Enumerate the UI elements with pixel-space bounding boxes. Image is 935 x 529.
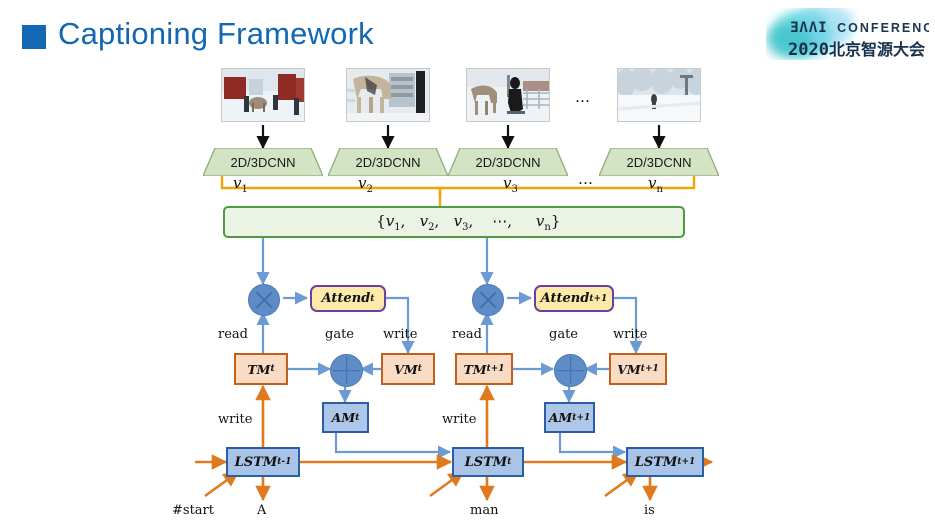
attend-block-t1-label: Attend	[541, 291, 590, 306]
lstm-block-t: LSTMt	[452, 447, 524, 477]
video-frame-4	[617, 68, 701, 122]
video-frame-3	[466, 68, 550, 122]
attended-memory-t-label: AM	[332, 410, 356, 425]
gate-op-t1	[554, 354, 587, 387]
temporal-memory-t: TMt	[234, 353, 288, 385]
temporal-memory-t1-sup: t+1	[487, 364, 505, 374]
attended-memory-t1-label: AM	[549, 410, 573, 425]
temporal-memory-t1: TMt+1	[455, 353, 513, 385]
temporal-memory-t-sup: t	[270, 364, 274, 374]
cnn-ellipsis: …	[578, 170, 595, 188]
title-bullet-icon	[22, 25, 46, 49]
lstm-block-t-sup: t	[507, 457, 511, 467]
read-label-t: read	[218, 327, 248, 342]
video-frame-2	[346, 68, 430, 122]
visual-memory-t-label: VM	[394, 362, 418, 377]
logo-conference-text: CONFERENCE	[837, 21, 929, 35]
read-label-t1: read	[452, 327, 482, 342]
lstm-block-t-label: LSTM	[465, 455, 508, 470]
frames-ellipsis: …	[575, 88, 592, 106]
lstm-block-t-minus-1: LSTMt-1	[226, 447, 300, 477]
gate-label-t: gate	[325, 327, 354, 342]
visual-memory-t1: VMt+1	[609, 353, 667, 385]
logo-chinese-text: 北京智源大会	[829, 40, 925, 59]
attend-block-t-sup: t	[370, 294, 374, 304]
temporal-memory-t1-label: TM	[463, 362, 486, 377]
feature-label-v3: v3	[503, 174, 518, 195]
multiply-op-t	[248, 284, 280, 316]
attended-memory-t1-sup: t+1	[572, 413, 590, 423]
cnn-block-3-label: 2D/3DCNN	[448, 148, 568, 176]
feature-set-box: {v1, v2, v3, ⋯, vn}	[223, 206, 685, 238]
caption-token-a: A	[257, 503, 266, 518]
cnn-block-1-label: 2D/3DCNN	[203, 148, 323, 176]
slide-canvas: Captioning Framework ƎΛΛI CONFERENCE 202…	[0, 0, 935, 529]
video-frame-1	[221, 68, 305, 122]
cnn-block-4: 2D/3DCNN	[599, 148, 719, 176]
attend-block-t1-sup: t+1	[589, 294, 607, 304]
gate-label-t1: gate	[549, 327, 578, 342]
logo-line-2: 2020北京智源大会	[788, 36, 925, 60]
feature-label-vn: vn	[648, 174, 663, 195]
feature-set-label: {v1, v2, v3, ⋯, vn}	[348, 194, 561, 251]
attended-memory-t: AMt	[322, 402, 369, 433]
temporal-memory-t-label: TM	[247, 362, 270, 377]
write-label-t1: write	[613, 327, 647, 342]
caption-token-is: is	[644, 503, 655, 518]
attend-block-t-label: Attend	[322, 291, 371, 306]
visual-memory-t: VMt	[381, 353, 435, 385]
caption-token-start: #start	[172, 503, 214, 518]
lstm-block-t-plus-1-label: LSTM	[635, 455, 678, 470]
logo-line-1: ƎΛΛI CONFERENCE	[790, 20, 929, 36]
attend-block-t: Attendt	[310, 285, 386, 312]
multiply-op-t1	[472, 284, 504, 316]
write-label-lstm-t: write	[218, 412, 252, 427]
visual-memory-t1-sup: t+1	[641, 364, 659, 374]
write-label-t: write	[383, 327, 417, 342]
feature-label-v2: v2	[358, 174, 373, 195]
logo-year: 2020	[788, 40, 829, 60]
cnn-block-3: 2D/3DCNN	[448, 148, 568, 176]
visual-memory-t-sup: t	[418, 364, 422, 374]
cnn-block-2-label: 2D/3DCNN	[328, 148, 448, 176]
visual-memory-t1-label: VM	[617, 362, 641, 377]
baai-conference-logo: ƎΛΛI CONFERENCE 2020北京智源大会	[766, 8, 929, 60]
logo-wordmark: ƎΛΛI	[790, 20, 828, 36]
cnn-block-4-label: 2D/3DCNN	[599, 148, 719, 176]
cnn-block-2: 2D/3DCNN	[328, 148, 448, 176]
write-label-lstm-t1: write	[442, 412, 476, 427]
cnn-block-1: 2D/3DCNN	[203, 148, 323, 176]
feature-label-v1: v1	[233, 174, 248, 195]
attend-block-t1: Attendt+1	[534, 285, 614, 312]
attended-memory-t1: AMt+1	[544, 402, 595, 433]
gate-op-t	[330, 354, 363, 387]
page-title: Captioning Framework	[58, 16, 374, 52]
caption-token-man: man	[470, 503, 498, 518]
lstm-block-t-plus-1-sup: t+1	[677, 457, 695, 467]
lstm-block-t-minus-1-sup: t-1	[277, 457, 291, 467]
lstm-block-t-minus-1-label: LSTM	[235, 455, 278, 470]
attended-memory-t-sup: t	[355, 413, 359, 423]
lstm-block-t-plus-1: LSTMt+1	[626, 447, 704, 477]
